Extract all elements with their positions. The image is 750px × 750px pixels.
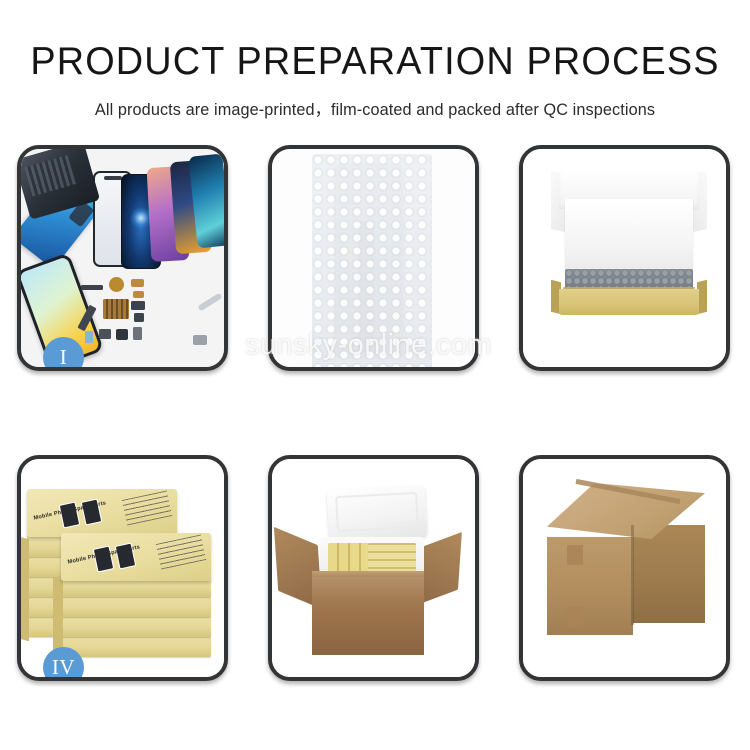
scene-stacked-boxes: Mobile Phone Spare Parts Mobile Phone Sp… [21,459,224,677]
box-front-panel [559,289,699,315]
process-row-1: I II [0,145,750,371]
earpiece-component [81,285,103,290]
white-foam-sheet [565,199,693,271]
small-chip-e [116,329,128,340]
retail-box-lid-second: Mobile Phone Spare Parts [61,533,211,581]
styrofoam-lid [327,484,428,541]
process-row-2: Mobile Phone Spare Parts Mobile Phone Sp… [0,455,750,681]
process-grid: I II [0,145,750,681]
screw-tray [103,299,129,319]
page-subtitle: All products are image-printed，film-coat… [6,96,745,120]
scene-carton-styrofoam [272,459,475,677]
panel-step-5[interactable]: V [268,455,479,681]
sealed-carton-edge [631,525,634,625]
panel-step-3[interactable]: III [519,145,730,371]
scene-phone-parts [21,149,224,367]
small-chip-c [85,331,93,343]
scene-kraft-box-foam [523,149,726,367]
retail-box-lid-top: Mobile Phone Spare Parts [27,489,177,537]
speaker-component [109,277,124,292]
small-chip-d [99,329,111,339]
step-badge-1: I [43,337,84,371]
step-badge-4: IV [43,647,84,681]
box-stack: Mobile Phone Spare Parts Mobile Phone Sp… [27,485,227,661]
scene-sealed-carton [523,459,726,677]
panel-step-1[interactable]: I [17,145,228,371]
small-chip-a [131,301,145,310]
panel-step-6[interactable]: VI [519,455,730,681]
small-chip-b [134,313,144,322]
sealed-carton-side [633,525,705,623]
carton-tab-lower [567,607,583,627]
small-chip-f [133,327,142,340]
sealed-carton-front [547,537,633,635]
panel-step-4[interactable]: Mobile Phone Spare Parts Mobile Phone Sp… [17,455,228,681]
carton-body [312,577,424,655]
header: PRODUCT PREPARATION PROCESS All products… [0,0,750,120]
screwdriver-tip [193,335,207,345]
panel-step-2[interactable]: II [268,145,479,371]
bubble-wrap-highlights [312,154,432,370]
product-preparation-infographic: PRODUCT PREPARATION PROCESS All products… [0,0,750,750]
flex-cable-a [131,279,144,287]
page-title: PRODUCT PREPARATION PROCESS [11,42,739,81]
flex-cable-b [133,291,144,298]
carton-tab-upper [567,545,583,565]
scene-bubble-wrap [272,149,475,367]
